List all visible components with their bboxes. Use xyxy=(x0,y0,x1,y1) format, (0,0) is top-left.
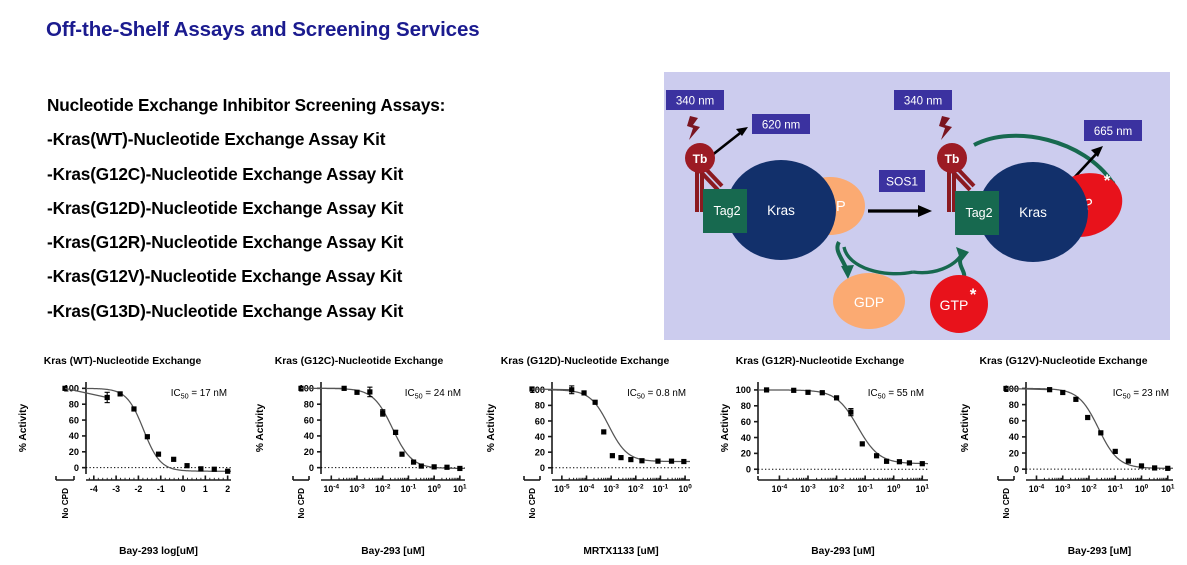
data-point xyxy=(156,452,161,457)
y-axis-tick-label: 20 xyxy=(741,449,751,459)
x-axis-no-cpd-label: No CPD xyxy=(61,488,70,519)
list-item: -Kras(G12R)-Nucleotide Exchange Assay Ki… xyxy=(47,225,647,259)
y-axis-tick-label: 60 xyxy=(304,415,314,425)
data-point xyxy=(618,455,623,460)
chart-title: Kras (G12V)-Nucleotide Exchange xyxy=(940,356,1187,367)
data-point xyxy=(593,400,598,405)
y-axis-tick-label: 80 xyxy=(304,400,314,410)
data-point xyxy=(198,466,203,471)
y-axis-tick-label: 40 xyxy=(69,431,79,441)
data-point xyxy=(820,390,825,395)
y-axis-tick-label: 0 xyxy=(74,463,79,473)
sos1-label: SOS1 xyxy=(879,170,925,192)
page-title: Off-the-Shelf Assays and Screening Servi… xyxy=(46,18,480,42)
data-point xyxy=(805,390,810,395)
y-axis-tick-label: 80 xyxy=(535,401,545,411)
data-point xyxy=(393,430,398,435)
excitation-bolt-right-icon xyxy=(939,116,952,140)
data-point xyxy=(171,457,176,462)
ic50-annotation: IC50 = 23 nM xyxy=(1113,388,1169,401)
chart-plot: 020406080100% Activity10-410-310-210-110… xyxy=(700,370,940,565)
gtp-bound-star: * xyxy=(1104,171,1111,190)
x-axis-tick-label: -3 xyxy=(112,484,120,494)
data-point xyxy=(1113,449,1118,454)
data-point xyxy=(1098,430,1103,435)
x-axis-tick-label: 10-1 xyxy=(653,484,669,494)
fit-curve xyxy=(758,390,928,464)
tag2-right: Tag2 xyxy=(955,191,999,235)
y-axis-tick-label: 60 xyxy=(69,415,79,425)
x-axis-tick-label: 10-2 xyxy=(375,484,391,494)
y-axis-title: % Activity xyxy=(960,404,971,453)
y-axis-tick-label: 0 xyxy=(746,465,751,475)
y-axis-tick-label: 20 xyxy=(304,447,314,457)
list-item: -Kras(G12D)-Nucleotide Exchange Assay Ki… xyxy=(47,191,647,225)
x-axis-tick-label: -4 xyxy=(90,484,98,494)
x-axis-tick-label: 10-2 xyxy=(829,484,845,494)
y-axis-tick-label: 40 xyxy=(741,433,751,443)
emission-label-right-text: 665 nm xyxy=(1094,126,1132,138)
data-point xyxy=(669,459,674,464)
excitation-label-right: 340 nm xyxy=(894,90,952,110)
x-axis-tick-label: 10-2 xyxy=(1081,484,1097,494)
reaction-arrow-icon xyxy=(868,205,932,217)
tb-donor-left-label: Tb xyxy=(693,152,708,166)
gdp-released: GDP xyxy=(833,273,905,329)
y-axis-tick-label: 80 xyxy=(69,400,79,410)
chart-plot: No CPD020406080100% Activity10-410-310-2… xyxy=(243,370,475,565)
emission-label-left: 620 nm xyxy=(752,114,810,134)
list-item: -Kras(G13D)-Nucleotide Exchange Assay Ki… xyxy=(47,294,647,328)
emission-label-left-text: 620 nm xyxy=(762,120,800,132)
x-axis-tick-label: -1 xyxy=(157,484,165,494)
y-axis-tick-label: 20 xyxy=(1009,448,1019,458)
data-point xyxy=(105,395,110,400)
y-axis-tick-label: 40 xyxy=(1009,432,1019,442)
data-point xyxy=(1152,465,1157,470)
chart-svg: No CPD020406080100% Activity10-510-410-3… xyxy=(468,370,702,560)
data-point xyxy=(907,460,912,465)
data-point xyxy=(834,395,839,400)
excitation-label-right-text: 340 nm xyxy=(904,96,942,108)
emission-arrow-left-icon xyxy=(711,127,748,156)
y-axis-tick-label: 80 xyxy=(1009,400,1019,410)
x-axis-no-cpd-label: No CPD xyxy=(1002,488,1011,519)
x-axis-tick-label: 10-4 xyxy=(772,484,788,494)
y-axis-tick-label: 100 xyxy=(530,385,545,395)
kras-protein-left-label: Kras xyxy=(767,203,795,218)
x-axis-tick-label: 10-3 xyxy=(1055,484,1071,494)
y-axis-title: % Activity xyxy=(486,404,497,453)
tb-donor-right-label: Tb xyxy=(945,152,960,166)
x-axis-tick-label: 10-1 xyxy=(401,484,417,494)
data-point xyxy=(860,441,865,446)
chart-plot: No CPD020406080100% Activity-4-3-2-1012B… xyxy=(0,370,245,565)
gtp-free: GTP * xyxy=(930,275,988,333)
data-point xyxy=(681,459,686,464)
x-axis-tick-label: 100 xyxy=(1135,484,1149,494)
tb-donor-left: Tb xyxy=(685,143,715,173)
x-axis-tick-label: 1 xyxy=(203,484,208,494)
x-axis-no-cpd-label: No CPD xyxy=(297,488,306,519)
data-point xyxy=(1139,463,1144,468)
data-point xyxy=(791,388,796,393)
data-point xyxy=(380,410,385,415)
x-axis-tick-label: 101 xyxy=(916,484,930,494)
dose-response-chart-row: Kras (WT)-Nucleotide Exchange No CPD0204… xyxy=(0,348,1187,560)
data-point xyxy=(639,458,644,463)
x-axis-tick-label: 100 xyxy=(678,484,692,494)
x-axis-tick-label: 10-4 xyxy=(324,484,340,494)
list-item: -Kras(WT)-Nucleotide Exchange Assay Kit xyxy=(47,122,647,156)
data-point xyxy=(569,387,574,392)
x-axis-tick-label: 101 xyxy=(453,484,467,494)
y-axis-title: % Activity xyxy=(255,404,266,453)
ic50-annotation: IC50 = 24 nM xyxy=(405,388,461,401)
chart-kras-g12r: Kras (G12R)-Nucleotide Exchange 02040608… xyxy=(700,348,940,560)
data-point xyxy=(1047,387,1052,392)
chart-svg: No CPD020406080100% Activity10-410-310-2… xyxy=(243,370,475,560)
data-point xyxy=(342,386,347,391)
data-point xyxy=(1126,458,1131,463)
chart-svg: No CPD020406080100% Activity-4-3-2-1012B… xyxy=(0,370,245,560)
emission-label-right: 665 nm xyxy=(1084,120,1142,141)
data-point xyxy=(432,464,437,469)
y-axis-tick-label: 80 xyxy=(741,401,751,411)
x-axis-title: Bay-293 [uM] xyxy=(1068,546,1131,557)
list-item: -Kras(G12C)-Nucleotide Exchange Assay Ki… xyxy=(47,157,647,191)
y-axis-tick-label: 0 xyxy=(309,463,314,473)
gdp-release-arrow-icon xyxy=(844,247,913,274)
x-axis-tick-label: 10-3 xyxy=(800,484,816,494)
x-axis-tick-label: 10-1 xyxy=(857,484,873,494)
data-point xyxy=(419,463,424,468)
data-point xyxy=(367,389,372,394)
y-axis-tick-label: 20 xyxy=(69,447,79,457)
data-point xyxy=(655,459,660,464)
data-point xyxy=(411,460,416,465)
x-axis-title: Bay-293 log[uM] xyxy=(119,546,198,557)
data-point xyxy=(601,429,606,434)
assay-list-heading: Nucleotide Exchange Inhibitor Screening … xyxy=(47,88,647,122)
gtp-free-star: * xyxy=(970,285,977,304)
tag2-right-label: Tag2 xyxy=(965,206,992,220)
x-axis-tick-label: 101 xyxy=(1161,484,1175,494)
data-point xyxy=(1085,415,1090,420)
x-axis-tick-label: 100 xyxy=(887,484,901,494)
chart-kras-g12v: Kras (G12V)-Nucleotide Exchange No CPD02… xyxy=(940,348,1187,560)
x-axis-title: Bay-293 [uM] xyxy=(811,546,874,557)
y-axis-tick-label: 60 xyxy=(741,417,751,427)
data-point xyxy=(848,410,853,415)
data-point xyxy=(118,391,123,396)
x-axis-tick-label: 10-4 xyxy=(1029,484,1045,494)
data-point xyxy=(1073,397,1078,402)
chart-kras-g12c: Kras (G12C)-Nucleotide Exchange No CPD02… xyxy=(243,348,475,560)
data-point xyxy=(610,453,615,458)
x-axis-tick-label: 10-5 xyxy=(554,484,570,494)
fit-curve xyxy=(552,390,690,462)
data-point xyxy=(399,452,404,457)
slide-canvas: Off-the-Shelf Assays and Screening Servi… xyxy=(0,0,1187,560)
tag2-left-label: Tag2 xyxy=(713,204,740,218)
data-point xyxy=(131,406,136,411)
gtp-capture-arrow-icon xyxy=(913,254,964,278)
data-point xyxy=(897,459,902,464)
fit-curve xyxy=(1026,389,1173,469)
excitation-bolt-left-icon xyxy=(687,116,700,140)
chart-kras-g12d: Kras (G12D)-Nucleotide Exchange No CPD02… xyxy=(468,348,702,560)
x-axis-tick-label: 10-3 xyxy=(349,484,365,494)
x-axis-tick-label: 10-4 xyxy=(579,484,595,494)
x-axis-tick-label: -2 xyxy=(135,484,143,494)
data-point xyxy=(874,453,879,458)
chart-title: Kras (G12C)-Nucleotide Exchange xyxy=(243,356,475,367)
x-axis-title: MRTX1133 [uM] xyxy=(583,546,658,557)
chart-title: Kras (WT)-Nucleotide Exchange xyxy=(0,356,245,367)
data-point xyxy=(225,469,230,474)
gtp-free-label: GTP xyxy=(940,297,969,313)
x-axis-tick-label: 100 xyxy=(427,484,441,494)
chart-title: Kras (G12D)-Nucleotide Exchange xyxy=(468,356,702,367)
data-point xyxy=(581,390,586,395)
data-point xyxy=(628,457,633,462)
y-axis-tick-label: 0 xyxy=(1014,464,1019,474)
data-point xyxy=(457,466,462,471)
x-axis-tick-label: 2 xyxy=(225,484,230,494)
fit-curve xyxy=(321,388,465,468)
y-axis-tick-label: 20 xyxy=(535,447,545,457)
y-axis-tick-label: 40 xyxy=(535,432,545,442)
fit-curve xyxy=(86,388,231,471)
ic50-annotation: IC50 = 0.8 nM xyxy=(627,388,686,401)
y-axis-title: % Activity xyxy=(720,404,731,453)
y-axis-tick-label: 60 xyxy=(1009,416,1019,426)
y-axis-tick-label: 40 xyxy=(304,431,314,441)
data-point xyxy=(884,459,889,464)
data-point xyxy=(444,465,449,470)
chart-kras-wt: Kras (WT)-Nucleotide Exchange No CPD0204… xyxy=(0,348,245,560)
list-item: -Kras(G12V)-Nucleotide Exchange Assay Ki… xyxy=(47,259,647,293)
excitation-label-left: 340 nm xyxy=(666,90,724,110)
x-axis-tick-label: 10-1 xyxy=(1108,484,1124,494)
tag2-left: Tag2 xyxy=(703,189,747,233)
x-axis-title: Bay-293 [uM] xyxy=(361,546,424,557)
data-point xyxy=(184,463,189,468)
gdp-released-label: GDP xyxy=(854,294,884,310)
assay-list: Nucleotide Exchange Inhibitor Screening … xyxy=(47,88,647,328)
y-axis-tick-label: 100 xyxy=(736,385,751,395)
y-axis-title: % Activity xyxy=(18,404,29,453)
sos1-label-text: SOS1 xyxy=(886,175,918,189)
data-point xyxy=(1060,390,1065,395)
data-point xyxy=(145,434,150,439)
chart-title: Kras (G12R)-Nucleotide Exchange xyxy=(700,356,940,367)
x-axis-tick-label: 10-3 xyxy=(603,484,619,494)
data-point xyxy=(212,467,217,472)
y-axis-tick-label: 0 xyxy=(540,463,545,473)
ic50-annotation: IC50 = 55 nM xyxy=(868,388,924,401)
data-point xyxy=(354,390,359,395)
trfret-mechanism-diagram: 340 nm 620 nm xyxy=(664,72,1170,340)
x-axis-tick-label: 10-2 xyxy=(628,484,644,494)
chart-plot: No CPD020406080100% Activity10-510-410-3… xyxy=(468,370,702,565)
chart-svg: 020406080100% Activity10-410-310-210-110… xyxy=(700,370,940,560)
x-axis-tick-label: 0 xyxy=(181,484,186,494)
diagram-svg: 340 nm 620 nm xyxy=(664,72,1170,340)
chart-svg: No CPD020406080100% Activity10-410-310-2… xyxy=(940,370,1187,560)
data-point xyxy=(920,461,925,466)
data-point xyxy=(764,387,769,392)
excitation-label-left-text: 340 nm xyxy=(676,96,714,108)
tb-donor-right: Tb xyxy=(937,143,967,173)
data-point xyxy=(1165,466,1170,471)
ic50-annotation: IC50 = 17 nM xyxy=(171,388,227,401)
x-axis-no-cpd-label: No CPD xyxy=(528,488,537,519)
kras-protein-right-label: Kras xyxy=(1019,205,1047,220)
y-axis-tick-label: 60 xyxy=(535,416,545,426)
chart-plot: No CPD020406080100% Activity10-410-310-2… xyxy=(940,370,1187,565)
